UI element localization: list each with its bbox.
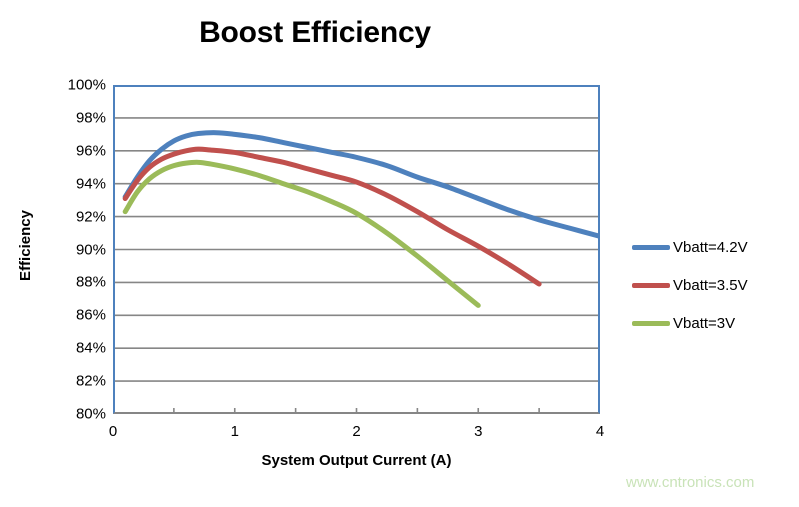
- x-tick-label: 1: [231, 423, 239, 440]
- legend-item[interactable]: Vbatt=3.5V: [632, 266, 797, 304]
- legend-label: Vbatt=3V: [673, 315, 735, 332]
- legend-color-swatch: [632, 283, 670, 288]
- legend-color-swatch: [632, 321, 670, 326]
- x-tick-label: 3: [474, 423, 482, 440]
- plot-area: [113, 85, 600, 414]
- x-tick-label: 0: [109, 423, 117, 440]
- legend-color-swatch: [632, 245, 670, 250]
- chart-legend: Vbatt=4.2VVbatt=3.5VVbatt=3V: [632, 228, 797, 342]
- chart-container: Boost Efficiency Efficiency 80%82%84%86%…: [0, 0, 799, 507]
- legend-item[interactable]: Vbatt=4.2V: [632, 228, 797, 266]
- legend-label: Vbatt=3.5V: [673, 277, 748, 294]
- watermark: www.cntronics.com: [626, 474, 754, 491]
- legend-item[interactable]: Vbatt=3V: [632, 304, 797, 342]
- x-axis-title: System Output Current (A): [113, 452, 600, 469]
- x-tick-label: 4: [596, 423, 604, 440]
- legend-label: Vbatt=4.2V: [673, 239, 748, 256]
- x-tick-label: 2: [352, 423, 360, 440]
- plot-frame: [113, 85, 600, 414]
